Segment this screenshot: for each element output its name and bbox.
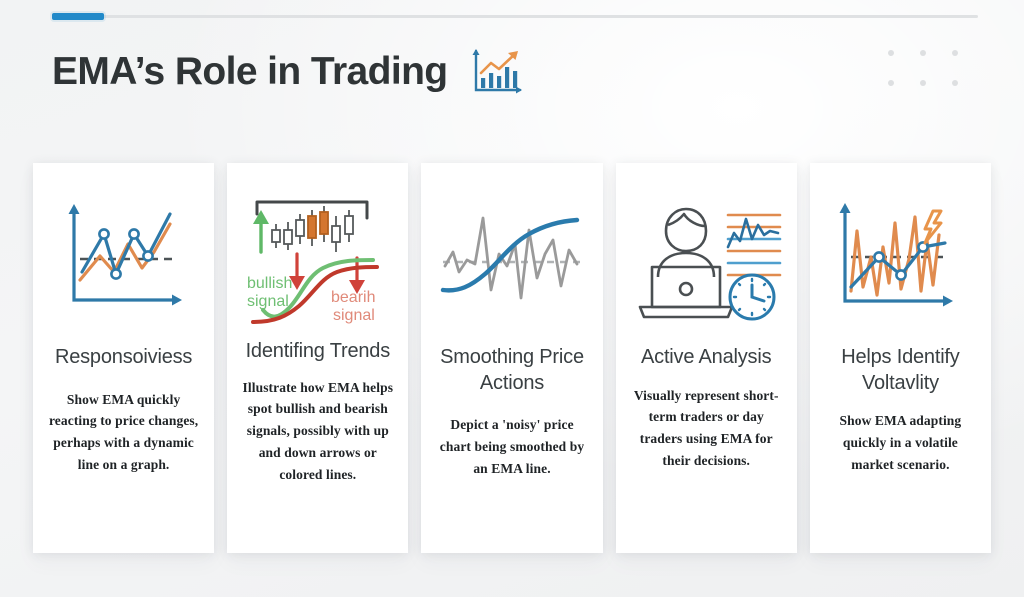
bearish-signal-label-line2: signal xyxy=(333,307,375,324)
top-progress-rule xyxy=(52,15,978,18)
card-body: Show EMA adapting quickly in a volatile … xyxy=(820,410,981,476)
decor-dot xyxy=(952,80,958,86)
page-header: EMA’s Role in Trading xyxy=(52,42,526,103)
page-title: EMA’s Role in Trading xyxy=(52,51,448,94)
card-body: Visually represent short-term traders or… xyxy=(626,385,787,472)
card-title: Responsoiviess xyxy=(55,345,192,371)
card-body: Depict a 'noisy' price chart being smoot… xyxy=(431,414,592,480)
dot-grid-decoration xyxy=(888,50,984,110)
decor-dot xyxy=(888,80,894,86)
card-title: Helps Identify Voltavlity xyxy=(820,345,981,396)
bearish-signal-label-line1: bearih xyxy=(331,289,375,306)
trader-laptop-clock-icon xyxy=(626,175,787,343)
card-responsiveness[interactable]: Responsoiviess Show EMA quickly reacting… xyxy=(33,163,214,553)
card-list: Responsoiviess Show EMA quickly reacting… xyxy=(33,163,991,553)
card-title: Identifing Trends xyxy=(246,339,390,365)
line-chart-responsive-icon xyxy=(43,175,204,343)
noisy-line-smoothing-icon xyxy=(431,175,592,343)
progress-indicator-fill xyxy=(52,13,104,20)
bar-chart-growth-icon xyxy=(466,46,526,103)
decor-dot xyxy=(920,50,926,56)
card-title: Smoothing Price Actions xyxy=(431,345,592,396)
decor-dot xyxy=(888,50,894,56)
decor-dot xyxy=(952,50,958,56)
volatility-lightning-icon xyxy=(820,175,981,343)
card-active-analysis[interactable]: Active Analysis Visually represent short… xyxy=(616,163,797,553)
card-smoothing-price-actions[interactable]: Smoothing Price Actions Depict a 'noisy'… xyxy=(421,163,602,553)
bullish-signal-label-line2: signal xyxy=(247,293,289,310)
bullish-signal-label-line1: bullish xyxy=(247,275,292,292)
card-helps-identify-volatility[interactable]: Helps Identify Voltavlity Show EMA adapt… xyxy=(810,163,991,553)
decor-dot xyxy=(920,80,926,86)
card-body: Illustrate how EMA helps spot bullish an… xyxy=(237,377,398,486)
candlestick-signals-icon: bullish signal bearih signal xyxy=(237,175,398,343)
card-title: Active Analysis xyxy=(641,345,771,371)
card-body: Show EMA quickly reacting to price chang… xyxy=(43,389,204,476)
card-identifying-trends[interactable]: bullish signal bearih signal Identifing … xyxy=(227,163,408,553)
